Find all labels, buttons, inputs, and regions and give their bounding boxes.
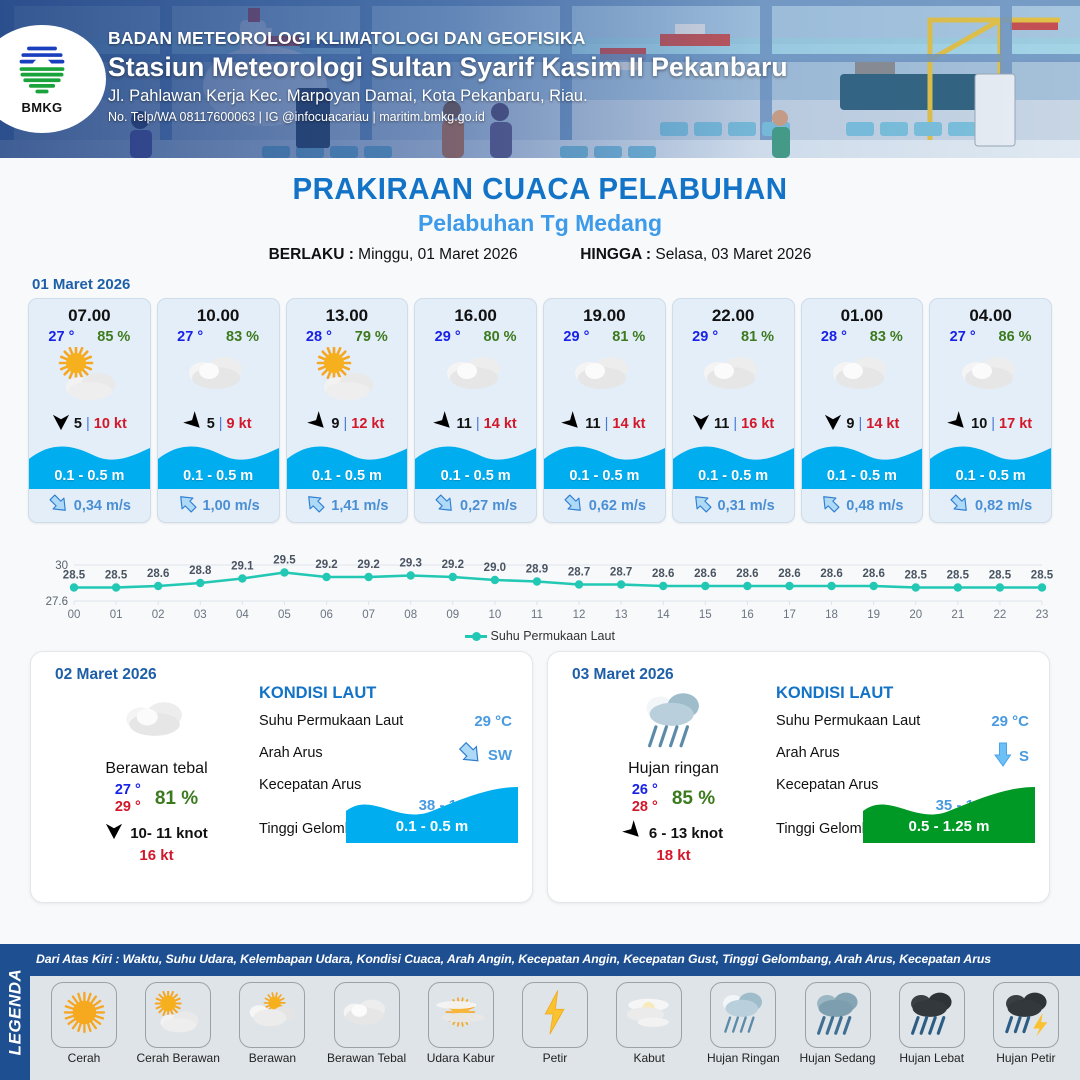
legend-item: Berawan bbox=[226, 982, 318, 1065]
svg-text:29.5: 29.5 bbox=[273, 555, 296, 567]
svg-text:08: 08 bbox=[404, 609, 417, 621]
card-time: 07.00 bbox=[29, 299, 150, 326]
svg-text:07: 07 bbox=[362, 609, 375, 621]
card-temp-hum: 28 ° 79 % bbox=[287, 326, 408, 345]
legend-item-label: Hujan Ringan bbox=[697, 1051, 789, 1065]
card-wind-gust: 14 kt bbox=[866, 416, 899, 432]
rain-heavy-icon bbox=[904, 988, 959, 1043]
forecast-card: 22.00 29 ° 81 % 11 | 16 kt 0.1 - 0.5 m 0… bbox=[672, 298, 795, 523]
card-time: 16.00 bbox=[415, 299, 536, 326]
svg-text:28.6: 28.6 bbox=[778, 568, 800, 580]
card-wind-speed: 11 bbox=[457, 416, 472, 432]
haze-icon bbox=[433, 991, 488, 1038]
panel-date: 02 Maret 2026 bbox=[55, 666, 157, 684]
svg-text:11: 11 bbox=[531, 609, 543, 621]
card-wave-height: 0.1 - 0.5 m bbox=[158, 468, 279, 484]
panel-wave-box: 0.1 - 0.5 m bbox=[346, 785, 518, 843]
wind-separator: | bbox=[86, 416, 90, 432]
sun-clouds-icon bbox=[245, 992, 300, 1038]
card-wind-speed: 9 bbox=[846, 416, 854, 432]
wind-direction-arrow-icon bbox=[949, 413, 967, 435]
panel-condition: Berawan tebal bbox=[49, 760, 264, 778]
panel-temp-min: 27 ° bbox=[115, 782, 141, 799]
valid-from-value: Minggu, 01 Maret 2026 bbox=[358, 246, 517, 263]
svg-text:28.5: 28.5 bbox=[1031, 570, 1054, 582]
legend-item: Hujan Ringan bbox=[697, 982, 789, 1065]
legend-item-label: Udara Kabur bbox=[415, 1051, 507, 1065]
title-block: PRAKIRAAN CUACA PELABUHAN Pelabuhan Tg M… bbox=[0, 158, 1080, 264]
sun-cloud-icon bbox=[312, 347, 382, 406]
station-name: Stasiun Meteorologi Sultan Syarif Kasim … bbox=[108, 52, 788, 83]
cloud-icon bbox=[120, 696, 194, 749]
wind-direction-arrow-icon bbox=[309, 413, 327, 435]
legend-item-label: Berawan Tebal bbox=[321, 1051, 413, 1065]
legend-item: Kabut bbox=[603, 982, 695, 1065]
wind-separator: | bbox=[733, 416, 737, 432]
card-current: 0,34 m/s bbox=[29, 489, 150, 522]
card-humidity: 81 % bbox=[612, 329, 645, 345]
card-temp-hum: 29 ° 81 % bbox=[673, 326, 794, 345]
sea-conditions-title: KONDISI LAUT bbox=[776, 684, 1035, 703]
svg-text:00: 00 bbox=[68, 609, 81, 621]
card-temperature: 28 ° bbox=[821, 329, 847, 345]
wind-direction-arrow-icon bbox=[563, 413, 581, 435]
card-wind: 5 | 10 kt bbox=[29, 407, 150, 441]
bmkg-logo-label: BMKG bbox=[22, 100, 63, 115]
card-wind-speed: 11 bbox=[585, 416, 600, 432]
extended-forecast-panels: 02 Maret 2026 Berawan tebal 27 ° 29 ° 81… bbox=[0, 643, 1080, 903]
current-direction-arrow-icon bbox=[177, 493, 198, 518]
card-wave: 0.1 - 0.5 m bbox=[673, 441, 794, 489]
sea-row-sst: Suhu Permukaan Laut 29 °C bbox=[259, 709, 518, 741]
card-weather-icon-wrap bbox=[802, 345, 923, 407]
svg-text:14: 14 bbox=[657, 609, 670, 621]
card-wind: 11 | 16 kt bbox=[673, 407, 794, 441]
svg-text:29.2: 29.2 bbox=[442, 559, 464, 571]
card-wind: 11 | 14 kt bbox=[544, 407, 665, 441]
cloud-icon bbox=[183, 351, 253, 402]
sun-icon bbox=[61, 989, 108, 1041]
current-direction-arrow-icon bbox=[48, 493, 69, 518]
current-direction-arrow-icon bbox=[820, 493, 841, 518]
card-weather-icon-wrap bbox=[158, 345, 279, 407]
legend-icon-box bbox=[899, 982, 965, 1048]
legend-item-label: Berawan bbox=[226, 1051, 318, 1065]
svg-text:28.5: 28.5 bbox=[989, 570, 1012, 582]
svg-text:28.7: 28.7 bbox=[568, 567, 590, 579]
legend-icon-box bbox=[616, 982, 682, 1048]
panel-weather-icon-wrap bbox=[49, 692, 264, 754]
card-wave-height: 0.1 - 0.5 m bbox=[415, 468, 536, 484]
card-wind-gust: 14 kt bbox=[612, 416, 645, 432]
sea-conditions-title: KONDISI LAUT bbox=[259, 684, 518, 703]
card-current-speed: 0,31 m/s bbox=[718, 498, 775, 514]
forecast-date: 01 Maret 2026 bbox=[32, 276, 1080, 293]
svg-text:29.2: 29.2 bbox=[357, 559, 379, 571]
panel-temps: 26 ° 28 ° 85 % bbox=[566, 782, 781, 815]
port-name: Pelabuhan Tg Medang bbox=[0, 210, 1080, 237]
header-text-block: BADAN METEOROLOGI KLIMATOLOGI DAN GEOFIS… bbox=[108, 28, 788, 124]
sst-value: 29 °C bbox=[991, 713, 1029, 730]
svg-text:06: 06 bbox=[320, 609, 333, 621]
card-wind: 5 | 9 kt bbox=[158, 407, 279, 441]
svg-text:09: 09 bbox=[446, 609, 459, 621]
sst-label: Suhu Permukaan Laut bbox=[776, 713, 920, 729]
wind-direction-arrow-icon bbox=[435, 413, 453, 435]
wind-direction-arrow-icon bbox=[692, 413, 710, 435]
day-forecast-panel: 02 Maret 2026 Berawan tebal 27 ° 29 ° 81… bbox=[30, 651, 533, 903]
bmkg-logo-icon bbox=[14, 41, 70, 99]
svg-text:27.6: 27.6 bbox=[46, 596, 68, 608]
validity-range: BERLAKU : Minggu, 01 Maret 2026 HINGGA :… bbox=[0, 246, 1080, 264]
panel-temp-max: 29 ° bbox=[115, 799, 141, 816]
card-wind: 9 | 12 kt bbox=[287, 407, 408, 441]
legend-side-label: LEGENDA bbox=[0, 944, 30, 1080]
legend-icon-box bbox=[522, 982, 588, 1048]
panel-temp-col: 26 ° 28 ° bbox=[632, 782, 658, 815]
legend-item: Berawan Tebal bbox=[321, 982, 413, 1065]
sun-cloud-icon bbox=[151, 991, 206, 1038]
valid-until-value: Selasa, 03 Maret 2026 bbox=[655, 246, 811, 263]
card-current: 0,82 m/s bbox=[930, 489, 1051, 522]
card-current: 1,00 m/s bbox=[158, 489, 279, 522]
valid-until-label: HINGGA : bbox=[580, 246, 651, 263]
cloud-icon bbox=[698, 351, 768, 402]
svg-text:19: 19 bbox=[867, 609, 880, 621]
panel-wind-range: 10- 11 knot bbox=[130, 825, 208, 842]
legend-item: Petir bbox=[509, 982, 601, 1065]
current-dir-value-wrap: S bbox=[992, 741, 1029, 771]
svg-text:28.6: 28.6 bbox=[147, 568, 169, 580]
card-temperature: 29 ° bbox=[435, 329, 461, 345]
legend-icon-box bbox=[51, 982, 117, 1048]
card-wave-height: 0.1 - 0.5 m bbox=[802, 468, 923, 484]
card-time: 13.00 bbox=[287, 299, 408, 326]
panel-temp-col: 27 ° 29 ° bbox=[115, 782, 141, 815]
forecast-card: 10.00 27 ° 83 % 5 | 9 kt 0.1 - 0.5 m 1,0… bbox=[157, 298, 280, 523]
card-weather-icon-wrap bbox=[29, 345, 150, 407]
arrow-down-left-icon bbox=[457, 741, 483, 769]
card-current: 0,62 m/s bbox=[544, 489, 665, 522]
panel-date: 03 Maret 2026 bbox=[572, 666, 674, 684]
wind-direction-arrow-icon bbox=[105, 822, 123, 844]
panel-temp-max: 28 ° bbox=[632, 799, 658, 816]
page-header: BMKG BADAN METEOROLOGI KLIMATOLOGI DAN G… bbox=[0, 0, 1080, 158]
svg-text:28.6: 28.6 bbox=[694, 568, 716, 580]
card-temperature: 28 ° bbox=[306, 329, 332, 345]
card-wind: 11 | 14 kt bbox=[415, 407, 536, 441]
card-wind-speed: 5 bbox=[207, 416, 215, 432]
panel-temps: 27 ° 29 ° 81 % bbox=[49, 782, 264, 815]
current-dir-value: S bbox=[1019, 748, 1029, 765]
legend-item-label: Petir bbox=[509, 1051, 601, 1065]
svg-text:02: 02 bbox=[152, 609, 165, 621]
svg-text:28.7: 28.7 bbox=[610, 567, 632, 579]
wind-separator: | bbox=[343, 416, 347, 432]
svg-text:10: 10 bbox=[488, 609, 501, 621]
cloud-icon bbox=[956, 351, 1026, 402]
wind-separator: | bbox=[605, 416, 609, 432]
card-humidity: 83 % bbox=[226, 329, 259, 345]
card-temp-hum: 29 ° 81 % bbox=[544, 326, 665, 345]
rain-thunder-icon bbox=[999, 988, 1054, 1043]
forecast-card: 07.00 27 ° 85 % 5 | 10 kt 0.1 - 0.5 m bbox=[28, 298, 151, 523]
legend-icon-box bbox=[710, 982, 776, 1048]
card-current-speed: 0,48 m/s bbox=[846, 498, 903, 514]
card-humidity: 85 % bbox=[97, 329, 130, 345]
legend-item-label: Kabut bbox=[603, 1051, 695, 1065]
wind-separator: | bbox=[858, 416, 862, 432]
card-time: 22.00 bbox=[673, 299, 794, 326]
agency-name: BADAN METEOROLOGI KLIMATOLOGI DAN GEOFIS… bbox=[108, 28, 788, 49]
panel-sea-conditions: KONDISI LAUT Suhu Permukaan Laut 29 °C A… bbox=[776, 684, 1035, 849]
card-weather-icon-wrap bbox=[544, 345, 665, 407]
card-weather-icon-wrap bbox=[673, 345, 794, 407]
card-wave: 0.1 - 0.5 m bbox=[287, 441, 408, 489]
lightning-icon bbox=[539, 989, 570, 1041]
card-temperature: 29 ° bbox=[692, 329, 718, 345]
svg-text:12: 12 bbox=[573, 609, 586, 621]
panel-wind-gust: 18 kt bbox=[566, 847, 781, 864]
forecast-card: 04.00 27 ° 86 % 10 | 17 kt 0.1 - 0.5 m 0… bbox=[929, 298, 1052, 523]
card-wind-gust: 14 kt bbox=[484, 416, 517, 432]
card-weather-icon-wrap bbox=[415, 345, 536, 407]
current-dir-value: SW bbox=[488, 747, 512, 764]
chart-legend-swatch-icon bbox=[465, 635, 487, 638]
clouds-icon bbox=[339, 995, 394, 1036]
card-humidity: 86 % bbox=[999, 329, 1032, 345]
legend-side-text: LEGENDA bbox=[5, 969, 25, 1056]
day-forecast-panel: 03 Maret 2026 Hujan ringan 26 ° 28 ° 85 … bbox=[547, 651, 1050, 903]
wind-direction-arrow-icon bbox=[52, 413, 70, 435]
svg-text:29.3: 29.3 bbox=[400, 558, 422, 570]
card-wind-gust: 17 kt bbox=[999, 416, 1032, 432]
card-temp-hum: 27 ° 86 % bbox=[930, 326, 1051, 345]
sun-cloud-icon bbox=[54, 347, 124, 406]
card-wind-speed: 9 bbox=[331, 416, 339, 432]
card-current: 0,48 m/s bbox=[802, 489, 923, 522]
legend-section: LEGENDA Dari Atas Kiri : Waktu, Suhu Uda… bbox=[0, 944, 1080, 1080]
card-temp-hum: 28 ° 83 % bbox=[802, 326, 923, 345]
legend-item-label: Hujan Sedang bbox=[792, 1051, 884, 1065]
sst-label: Suhu Permukaan Laut bbox=[259, 713, 403, 729]
card-temperature: 27 ° bbox=[177, 329, 203, 345]
rain-light-icon bbox=[637, 687, 711, 759]
card-current-speed: 0,27 m/s bbox=[460, 498, 517, 514]
legend-icon-box bbox=[993, 982, 1059, 1048]
svg-text:29.0: 29.0 bbox=[484, 562, 506, 574]
card-wind: 9 | 14 kt bbox=[802, 407, 923, 441]
wind-direction-arrow-icon bbox=[624, 822, 642, 844]
card-wave-height: 0.1 - 0.5 m bbox=[287, 468, 408, 484]
card-temp-hum: 27 ° 83 % bbox=[158, 326, 279, 345]
legend-item-label: Hujan Petir bbox=[980, 1051, 1072, 1065]
card-weather-icon-wrap bbox=[930, 345, 1051, 407]
svg-text:22: 22 bbox=[994, 609, 1007, 621]
forecast-card: 19.00 29 ° 81 % 11 | 14 kt 0.1 - 0.5 m 0… bbox=[543, 298, 666, 523]
panel-temp-min: 26 ° bbox=[632, 782, 658, 799]
svg-text:17: 17 bbox=[783, 609, 796, 621]
wind-separator: | bbox=[991, 416, 995, 432]
svg-text:28.5: 28.5 bbox=[105, 570, 128, 582]
svg-text:28.5: 28.5 bbox=[905, 570, 928, 582]
panel-wind: 6 - 13 knot bbox=[566, 822, 781, 844]
svg-text:29.2: 29.2 bbox=[315, 559, 337, 571]
legend-note: Dari Atas Kiri : Waktu, Suhu Udara, Kele… bbox=[36, 952, 1074, 966]
card-wave-height: 0.1 - 0.5 m bbox=[29, 468, 150, 484]
current-dir-label: Arah Arus bbox=[259, 745, 323, 761]
card-wave-height: 0.1 - 0.5 m bbox=[544, 468, 665, 484]
card-current-speed: 0,34 m/s bbox=[74, 498, 131, 514]
svg-text:20: 20 bbox=[909, 609, 922, 621]
current-direction-arrow-icon bbox=[563, 493, 584, 518]
panel-weather-block: Hujan ringan 26 ° 28 ° 85 % 6 - 13 knot … bbox=[566, 692, 781, 864]
card-wave-height: 0.1 - 0.5 m bbox=[930, 468, 1051, 484]
svg-text:28.6: 28.6 bbox=[862, 568, 884, 580]
legend-item: Cerah Berawan bbox=[132, 982, 224, 1065]
card-humidity: 83 % bbox=[870, 329, 903, 345]
current-direction-arrow-icon bbox=[434, 493, 455, 518]
svg-text:03: 03 bbox=[194, 609, 207, 621]
panel-weather-icon-wrap bbox=[566, 692, 781, 754]
card-humidity: 79 % bbox=[355, 329, 388, 345]
legend-icon-box bbox=[239, 982, 305, 1048]
card-temperature: 27 ° bbox=[950, 329, 976, 345]
svg-text:05: 05 bbox=[278, 609, 291, 621]
wind-direction-arrow-icon bbox=[824, 413, 842, 435]
arrow-down-icon bbox=[992, 741, 1014, 771]
legend-item: Hujan Sedang bbox=[792, 982, 884, 1065]
sea-row-current-dir: Arah Arus S bbox=[776, 741, 1035, 773]
panel-wave-height: 0.1 - 0.5 m bbox=[346, 818, 518, 835]
valid-from-label: BERLAKU : bbox=[269, 246, 354, 263]
svg-text:13: 13 bbox=[615, 609, 628, 621]
card-wind-gust: 16 kt bbox=[741, 416, 774, 432]
svg-text:28.6: 28.6 bbox=[736, 568, 758, 580]
forecast-card: 13.00 28 ° 79 % 9 | 12 kt 0.1 - 0.5 m bbox=[286, 298, 409, 523]
legend-icon-box bbox=[334, 982, 400, 1048]
card-time: 01.00 bbox=[802, 299, 923, 326]
card-wind-gust: 9 kt bbox=[227, 416, 252, 432]
svg-text:15: 15 bbox=[699, 609, 712, 621]
svg-text:28.9: 28.9 bbox=[526, 564, 548, 576]
svg-text:23: 23 bbox=[1036, 609, 1049, 621]
card-temperature: 27 ° bbox=[48, 329, 74, 345]
card-wind-speed: 10 bbox=[971, 416, 987, 432]
panel-wind-range: 6 - 13 knot bbox=[649, 825, 723, 842]
svg-text:28.6: 28.6 bbox=[820, 568, 842, 580]
card-current-speed: 0,62 m/s bbox=[589, 498, 646, 514]
sea-row-sst: Suhu Permukaan Laut 29 °C bbox=[776, 709, 1035, 741]
card-wave: 0.1 - 0.5 m bbox=[158, 441, 279, 489]
forecast-card: 16.00 29 ° 80 % 11 | 14 kt 0.1 - 0.5 m 0… bbox=[414, 298, 537, 523]
rain-medium-icon bbox=[810, 988, 865, 1043]
cloud-icon bbox=[827, 351, 897, 402]
legend-item: Cerah bbox=[38, 982, 130, 1065]
card-time: 10.00 bbox=[158, 299, 279, 326]
card-current: 1,41 m/s bbox=[287, 489, 408, 522]
panel-wind: 10- 11 knot bbox=[49, 822, 264, 844]
station-address: Jl. Pahlawan Kerja Kec. Marpoyan Damai, … bbox=[108, 87, 788, 106]
svg-text:28.8: 28.8 bbox=[189, 565, 212, 577]
card-current-speed: 1,00 m/s bbox=[203, 498, 260, 514]
card-temp-hum: 29 ° 80 % bbox=[415, 326, 536, 345]
forecast-card: 01.00 28 ° 83 % 9 | 14 kt 0.1 - 0.5 m 0,… bbox=[801, 298, 924, 523]
svg-text:28.5: 28.5 bbox=[63, 570, 86, 582]
cloud-icon bbox=[569, 351, 639, 402]
card-wave: 0.1 - 0.5 m bbox=[544, 441, 665, 489]
sea-row-current-dir: Arah Arus SW bbox=[259, 741, 518, 773]
svg-text:28.6: 28.6 bbox=[652, 568, 674, 580]
card-wave: 0.1 - 0.5 m bbox=[802, 441, 923, 489]
panel-wave-box: 0.5 - 1.25 m bbox=[863, 785, 1035, 843]
panel-sea-conditions: KONDISI LAUT Suhu Permukaan Laut 29 °C A… bbox=[259, 684, 518, 849]
legend-item-label: Cerah bbox=[38, 1051, 130, 1065]
svg-text:16: 16 bbox=[741, 609, 754, 621]
card-wave: 0.1 - 0.5 m bbox=[29, 441, 150, 489]
page-title: PRAKIRAAN CUACA PELABUHAN bbox=[27, 171, 1053, 207]
panel-humidity: 85 % bbox=[672, 788, 715, 810]
legend-item-label: Hujan Lebat bbox=[886, 1051, 978, 1065]
wind-direction-arrow-icon bbox=[185, 413, 203, 435]
sst-chart: 3027.628.50028.50128.60228.80329.10429.5… bbox=[26, 535, 1054, 627]
chart-legend: Suhu Permukaan Laut bbox=[0, 629, 1080, 643]
card-wind: 10 | 17 kt bbox=[930, 407, 1051, 441]
card-time: 19.00 bbox=[544, 299, 665, 326]
legend-icon-box bbox=[428, 982, 494, 1048]
legend-icon-box bbox=[805, 982, 871, 1048]
card-humidity: 81 % bbox=[741, 329, 774, 345]
svg-text:18: 18 bbox=[825, 609, 838, 621]
card-wind-gust: 10 kt bbox=[94, 416, 127, 432]
card-wave: 0.1 - 0.5 m bbox=[930, 441, 1051, 489]
current-dir-value-wrap: SW bbox=[457, 741, 512, 769]
sst-chart-svg: 3027.628.50028.50128.60228.80329.10429.5… bbox=[26, 535, 1054, 627]
chart-legend-label: Suhu Permukaan Laut bbox=[491, 629, 615, 643]
sst-value: 29 °C bbox=[474, 713, 512, 730]
svg-text:28.5: 28.5 bbox=[947, 570, 970, 582]
panel-humidity: 81 % bbox=[155, 788, 198, 810]
card-current: 0,31 m/s bbox=[673, 489, 794, 522]
legend-item: Udara Kabur bbox=[415, 982, 507, 1065]
svg-text:29.1: 29.1 bbox=[231, 561, 254, 573]
card-wind-speed: 11 bbox=[714, 416, 729, 432]
card-wave-height: 0.1 - 0.5 m bbox=[673, 468, 794, 484]
fog-icon bbox=[622, 991, 677, 1038]
panel-wind-gust: 16 kt bbox=[49, 847, 264, 864]
legend-item: Hujan Lebat bbox=[886, 982, 978, 1065]
card-temperature: 29 ° bbox=[563, 329, 589, 345]
card-wind-speed: 5 bbox=[74, 416, 82, 432]
panel-weather-block: Berawan tebal 27 ° 29 ° 81 % 10- 11 knot… bbox=[49, 692, 264, 864]
card-current-speed: 1,41 m/s bbox=[331, 498, 388, 514]
legend-item-list: Cerah Cerah Berawan Berawan Berawan bbox=[30, 976, 1080, 1080]
card-time: 04.00 bbox=[930, 299, 1051, 326]
card-weather-icon-wrap bbox=[287, 345, 408, 407]
forecast-card-list: 07.00 27 ° 85 % 5 | 10 kt 0.1 - 0.5 m bbox=[0, 298, 1080, 523]
wind-separator: | bbox=[476, 416, 480, 432]
current-direction-arrow-icon bbox=[305, 493, 326, 518]
cloud-icon bbox=[441, 351, 511, 402]
panel-wave-height: 0.5 - 1.25 m bbox=[863, 818, 1035, 835]
svg-text:04: 04 bbox=[236, 609, 249, 621]
legend-item: Hujan Petir bbox=[980, 982, 1072, 1065]
rain-light-icon bbox=[716, 988, 771, 1043]
legend-item-label: Cerah Berawan bbox=[132, 1051, 224, 1065]
panel-condition: Hujan ringan bbox=[566, 760, 781, 778]
card-temp-hum: 27 ° 85 % bbox=[29, 326, 150, 345]
card-wind-gust: 12 kt bbox=[351, 416, 384, 432]
